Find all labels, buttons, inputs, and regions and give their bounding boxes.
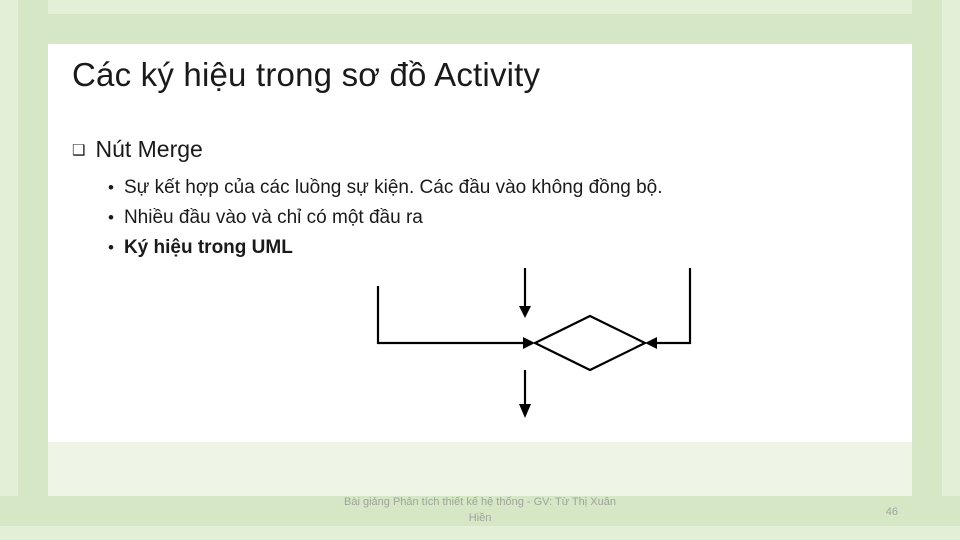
list-item: • Nhiều đầu vào và chỉ có một đầu ra <box>108 205 663 231</box>
footer-band <box>48 442 912 496</box>
slide-title: Các ký hiệu trong sơ đồ Activity <box>72 56 892 94</box>
decor-band-top-outer <box>0 0 960 14</box>
slide: Các ký hiệu trong sơ đồ Activity ❑ Nút M… <box>0 0 960 540</box>
decor-band-top-inner <box>0 14 960 44</box>
merge-node-svg <box>340 258 740 438</box>
bullet-heading-label: Nút Merge <box>95 136 202 163</box>
round-bullet-icon: • <box>108 235 114 261</box>
decor-band-left-inner <box>18 0 48 540</box>
outbound-arrow-head <box>519 404 531 418</box>
square-bullet-icon: ❑ <box>72 141 85 159</box>
footer-line-1: Bài giảng Phân tích thiết kế hệ thống - … <box>280 494 680 510</box>
merge-diamond-shape <box>535 316 645 370</box>
list-item-label: Nhiều đầu vào và chỉ có một đầu ra <box>124 205 423 231</box>
inbound-arrow-right-path <box>650 268 690 343</box>
list-item-label: Ký hiệu trong UML <box>124 235 293 261</box>
round-bullet-icon: • <box>108 175 114 201</box>
footer-text: Bài giảng Phân tích thiết kế hệ thống - … <box>280 494 680 526</box>
inbound-arrow-top-head <box>519 306 531 318</box>
list-item: • Sự kết hợp của các luồng sự kiện. Các … <box>108 175 663 201</box>
round-bullet-icon: • <box>108 205 114 231</box>
decor-band-bottom-outer <box>0 526 960 540</box>
merge-node-diagram <box>340 258 740 438</box>
inbound-arrow-right-head <box>645 337 657 349</box>
list-item-label: Sự kết hợp của các luồng sự kiện. Các đầ… <box>124 175 663 201</box>
bullet-heading: ❑ Nút Merge <box>72 136 203 163</box>
inbound-arrow-left-path <box>378 286 530 343</box>
decor-band-left-outer <box>0 0 18 540</box>
sub-bullet-list: • Sự kết hợp của các luồng sự kiện. Các … <box>108 175 663 265</box>
footer-line-2: Hiền <box>280 510 680 526</box>
page-number: 46 <box>886 506 898 518</box>
decor-band-right-inner <box>912 0 942 540</box>
inbound-arrow-left-head <box>523 337 535 349</box>
decor-band-right-outer <box>942 0 960 540</box>
